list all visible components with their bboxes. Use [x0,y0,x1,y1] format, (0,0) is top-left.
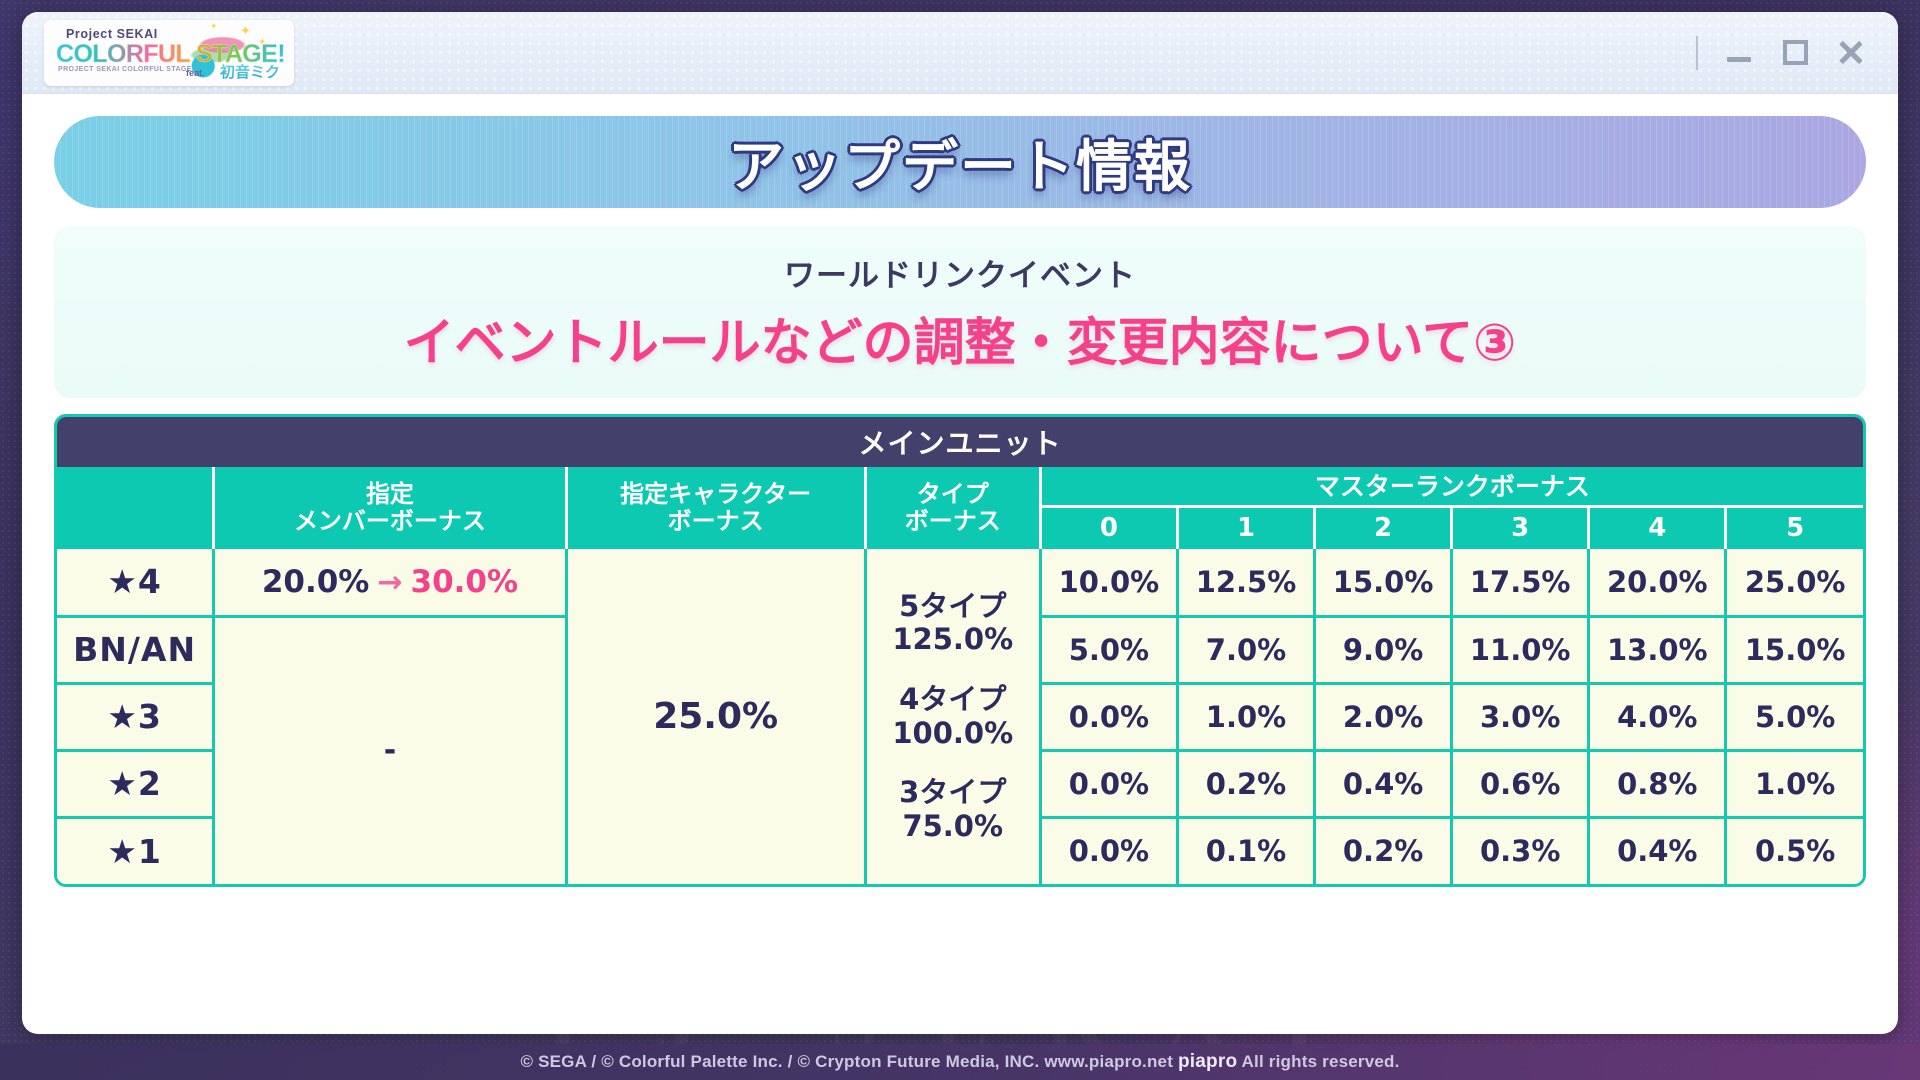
maximize-button[interactable] [1780,38,1810,68]
footer-bar: © SEGA / © Colorful Palette Inc. / © Cry… [0,1044,1920,1080]
col-header-master-rank-3: 3 [1452,507,1589,550]
type-bonus-item-1: 4タイプ 100.0% [867,683,1039,750]
copyright-text: © SEGA / © Colorful Palette Inc. / © Cry… [520,1051,1399,1073]
col-header-master-rank-4: 4 [1589,507,1726,550]
col-header-master-rank-5: 5 [1726,507,1863,550]
logo-feat-text: feat. [186,68,205,78]
col-header-member-bonus-line1: 指定 [217,481,563,508]
piapro-logo-text: piapro [1178,1051,1237,1072]
col-header-master-rank-bonus: マスターランクボーナス [1040,467,1863,507]
logo-project-text: Project SEKAI [66,27,158,41]
app-logo: ✦ ✦ ✦ Project SEKAI COLORFUL STAGE! PROJ… [44,20,294,86]
cell-mr-2-3: 3.0% [1452,683,1589,750]
cell-mr-2-4: 4.0% [1589,683,1726,750]
cell-rarity-1: BN/AN [57,616,214,683]
type-bonus-item-0: 5タイプ 125.0% [867,590,1039,657]
sparkle-icon: ✦ [210,22,218,31]
copyright-before: © SEGA / © Colorful Palette Inc. / © Cry… [520,1052,1178,1071]
cell-type-bonus: 5タイプ 125.0% 4タイプ 100.0% 3タイプ 75.0% [865,549,1040,884]
cell-member-bonus-star4: 20.0%→30.0% [214,549,567,616]
cell-mr-3-0: 0.0% [1040,750,1177,817]
cell-mr-2-5: 5.0% [1726,683,1863,750]
cell-mr-2-1: 1.0% [1177,683,1314,750]
col-header-master-rank-1: 1 [1177,507,1314,550]
cell-mr-1-0: 5.0% [1040,616,1177,683]
subtitle-heading: イベントルールなどの調整・変更内容について③ [404,301,1517,375]
cell-character-bonus: 25.0% [566,549,865,884]
cell-rarity-2: ★3 [57,683,214,750]
logo-miku-text: 初音ミク [220,61,280,82]
app-window: ✦ ✦ ✦ Project SEKAI COLORFUL STAGE! PROJ… [22,12,1898,1034]
cell-mr-0-3: 17.5% [1452,549,1589,616]
col-header-master-rank-2: 2 [1315,507,1452,550]
cell-mr-1-2: 9.0% [1315,616,1452,683]
cell-mr-4-2: 0.2% [1315,817,1452,884]
table-header-row-1: 指定 メンバーボーナス 指定キャラクター ボーナス タイプ ボーナス マスターラ… [57,467,1863,507]
cell-mr-1-5: 15.0% [1726,616,1863,683]
type-bonus-item-2: 3タイプ 75.0% [867,776,1039,843]
type-bonus-label-2: 3タイプ [867,776,1039,810]
minimize-button[interactable] [1724,38,1754,68]
subtitle-event-name: ワールドリンクイベント [784,250,1136,295]
col-header-type-bonus-line1: タイプ [869,481,1037,508]
cell-mr-0-1: 12.5% [1177,549,1314,616]
cell-mr-0-0: 10.0% [1040,549,1177,616]
cell-mr-4-1: 0.1% [1177,817,1314,884]
cell-mr-2-2: 2.0% [1315,683,1452,750]
table-body: ★4 20.0%→30.0% 25.0% 5タイプ 125.0% 4タイプ [57,549,1863,884]
table-row: ★4 20.0%→30.0% 25.0% 5タイプ 125.0% 4タイプ [57,549,1863,616]
update-info-banner: アップデート情報 [54,116,1866,208]
logo-subtitle-text: PROJECT SEKAI COLORFUL STAGE! [58,66,195,73]
type-bonus-value-1: 100.0% [867,717,1039,751]
cell-member-bonus-rest: - [214,616,567,884]
window-controls-divider [1696,36,1698,70]
type-bonus-label-0: 5タイプ [867,590,1039,624]
cell-mr-3-5: 1.0% [1726,750,1863,817]
cell-rarity-3: ★2 [57,750,214,817]
col-header-rarity [57,467,214,549]
minimize-icon [1727,57,1751,62]
bonus-table: 指定 メンバーボーナス 指定キャラクター ボーナス タイプ ボーナス マスターラ… [57,467,1863,884]
col-header-character-bonus-line1: 指定キャラクター [570,481,862,508]
member-bonus-new-value: 30.0% [411,564,519,600]
col-header-master-rank-0: 0 [1040,507,1177,550]
logo-card: ✦ ✦ ✦ Project SEKAI COLORFUL STAGE! PROJ… [44,20,294,86]
col-header-member-bonus: 指定 メンバーボーナス [214,467,567,549]
cell-mr-4-4: 0.4% [1589,817,1726,884]
title-bar: ✦ ✦ ✦ Project SEKAI COLORFUL STAGE! PROJ… [22,12,1898,94]
arrow-icon: → [377,565,402,600]
cell-mr-0-4: 20.0% [1589,549,1726,616]
close-icon [1837,39,1865,67]
cell-mr-0-2: 15.0% [1315,549,1452,616]
cell-rarity-0: ★4 [57,549,214,616]
cell-mr-1-1: 7.0% [1177,616,1314,683]
maximize-icon [1783,40,1808,65]
member-bonus-old-value: 20.0% [262,564,370,600]
type-bonus-label-1: 4タイプ [867,683,1039,717]
col-header-type-bonus: タイプ ボーナス [865,467,1040,549]
cell-mr-1-3: 11.0% [1452,616,1589,683]
cell-mr-2-0: 0.0% [1040,683,1177,750]
page-content: アップデート情報 ワールドリンクイベント イベントルールなどの調整・変更内容につ… [22,94,1898,887]
cell-mr-3-1: 0.2% [1177,750,1314,817]
cell-mr-3-2: 0.4% [1315,750,1452,817]
sparkle-icon: ✦ [240,24,251,37]
window-controls [1696,36,1866,70]
cell-mr-4-0: 0.0% [1040,817,1177,884]
copyright-after: All rights reserved. [1237,1052,1399,1071]
type-bonus-value-0: 125.0% [867,623,1039,657]
cell-mr-3-4: 0.8% [1589,750,1726,817]
table-header: 指定 メンバーボーナス 指定キャラクター ボーナス タイプ ボーナス マスターラ… [57,467,1863,549]
close-button[interactable] [1836,38,1866,68]
cell-mr-4-5: 0.5% [1726,817,1863,884]
col-header-character-bonus-line2: ボーナス [570,508,862,535]
cell-rarity-4: ★1 [57,817,214,884]
cell-mr-0-5: 25.0% [1726,549,1863,616]
col-header-character-bonus: 指定キャラクター ボーナス [566,467,865,549]
col-header-type-bonus-line2: ボーナス [869,508,1037,535]
cell-mr-4-3: 0.3% [1452,817,1589,884]
type-bonus-value-2: 75.0% [867,810,1039,844]
table-unit-header: メインユニット [57,417,1863,467]
page-title: アップデート情報 [728,122,1192,203]
col-header-member-bonus-line2: メンバーボーナス [217,508,563,535]
subtitle-panel: ワールドリンクイベント イベントルールなどの調整・変更内容について③ [54,226,1866,398]
cell-mr-3-3: 0.6% [1452,750,1589,817]
cell-mr-1-4: 13.0% [1589,616,1726,683]
bonus-table-container: メインユニット 指定 メンバーボーナス [54,414,1866,887]
